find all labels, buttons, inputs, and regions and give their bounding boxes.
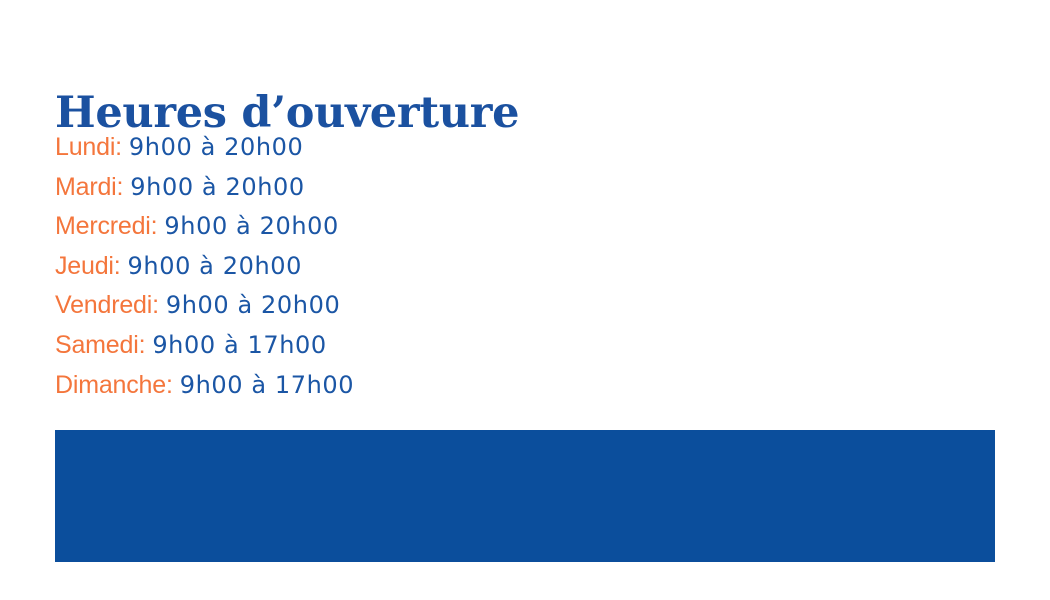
day-label: Mercredi: — [55, 212, 157, 240]
time-value: 9h00 à 20h00 — [129, 133, 303, 161]
day-label: Lundi: — [55, 133, 122, 161]
list-item: Vendredi:9h00 à 20h00 — [55, 289, 955, 329]
time-value: 9h00 à 20h00 — [128, 252, 302, 280]
list-item: Dimanche:9h00 à 17h00 — [55, 369, 955, 409]
day-label: Vendredi: — [55, 291, 159, 319]
list-item: Lundi:9h00 à 20h00 — [55, 131, 955, 171]
day-label: Samedi: — [55, 331, 145, 359]
list-item: Mercredi:9h00 à 20h00 — [55, 210, 955, 250]
day-label: Mardi: — [55, 173, 123, 201]
list-item: Mardi:9h00 à 20h00 — [55, 171, 955, 211]
day-label: Jeudi: — [55, 252, 121, 280]
slide-canvas: Heures d’ouverture Lundi:9h00 à 20h00 Ma… — [0, 0, 1050, 600]
time-value: 9h00 à 20h00 — [164, 212, 338, 240]
list-item: Jeudi:9h00 à 20h00 — [55, 250, 955, 290]
time-value: 9h00 à 17h00 — [152, 331, 326, 359]
opening-hours-list: Lundi:9h00 à 20h00 Mardi:9h00 à 20h00 Me… — [55, 131, 955, 408]
time-value: 9h00 à 20h00 — [166, 291, 340, 319]
footer-banner — [55, 430, 995, 562]
day-label: Dimanche: — [55, 371, 173, 399]
time-value: 9h00 à 20h00 — [130, 173, 304, 201]
time-value: 9h00 à 17h00 — [180, 371, 354, 399]
list-item: Samedi:9h00 à 17h00 — [55, 329, 955, 369]
